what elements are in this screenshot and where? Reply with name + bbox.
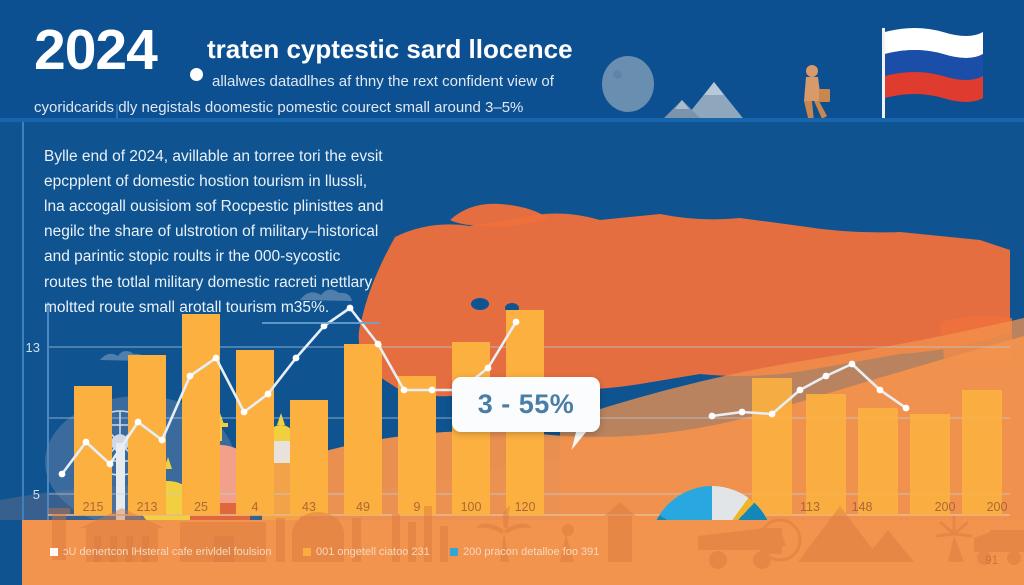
y-tick-label-13: 13 <box>14 340 40 355</box>
header-banner: 2024 traten cyptestic sard llocence alla… <box>0 0 1024 122</box>
walking-person-icon <box>795 63 833 122</box>
header-year: 2024 <box>34 22 157 79</box>
header-subtitle-line1: allalwes datadlhes af thny the rext conf… <box>212 73 652 92</box>
percent-callout-value: 3 - 55% <box>478 389 575 420</box>
legend-label-2: 200 pracon detalloe foo 391 <box>463 546 599 558</box>
moon-icon <box>602 56 654 112</box>
legend: ɔU denertcon lHsteral cafe erivldel foul… <box>0 545 1024 567</box>
legend-item-0[interactable]: ɔU denertcon lHsteral cafe erivldel foul… <box>50 546 272 558</box>
corner-number: 91 <box>985 553 998 567</box>
header-bullet-dot <box>190 68 203 81</box>
legend-label-1: 001 ongetell ciatoo 231 <box>316 546 430 558</box>
footer-silhouettes <box>0 500 1024 585</box>
legend-item-2[interactable]: 200 pracon detalloe foo 391 <box>450 546 599 558</box>
mountain-icon <box>660 80 770 122</box>
legend-item-1[interactable]: 001 ongetell ciatoo 231 <box>303 546 430 558</box>
infographic-root: 2024 traten cyptestic sard llocence alla… <box>0 0 1024 585</box>
legend-swatch-0 <box>50 548 58 556</box>
body-divider-rule <box>262 322 380 324</box>
legend-label-0: ɔU denertcon lHsteral cafe erivldel foul… <box>63 546 272 558</box>
legend-swatch-2 <box>450 548 458 556</box>
legend-swatch-1 <box>303 548 311 556</box>
header-title: traten cyptestic sard llocence <box>207 35 627 64</box>
russia-flag-icon <box>873 22 985 122</box>
percent-callout[interactable]: 3 - 55% <box>452 377 600 432</box>
body-paragraph: Bylle end of 2024, avillable an torree t… <box>44 144 384 320</box>
header-subtitle-line2: cyoridcarids dly negistals doomestic pom… <box>34 99 674 118</box>
